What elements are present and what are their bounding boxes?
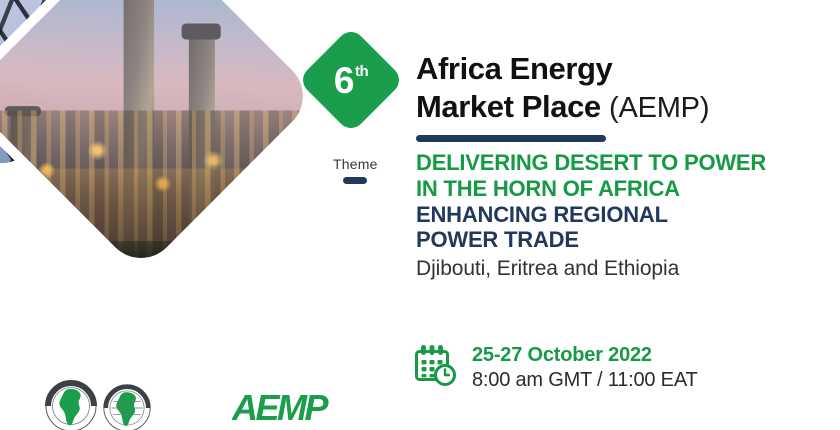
theme-label-group: Theme: [333, 156, 378, 184]
theme-line-3: ENHANCING REGIONAL: [416, 202, 828, 228]
aemp-wordmark-text: AEMP: [232, 387, 329, 428]
event-datetime-text: 25-27 October 2022 8:00 am GMT / 11:00 E…: [472, 344, 698, 391]
theme-statement: DELIVERING DESERT TO POWER IN THE HORN O…: [416, 150, 828, 282]
event-title-line-2-text: Market Place: [416, 89, 601, 124]
edition-number: 6: [334, 62, 354, 99]
power-plant-photo: [0, 0, 318, 273]
theme-countries: Djibouti, Eritrea and Ethiopia: [416, 257, 828, 282]
event-datetime-block: 25-27 October 2022 8:00 am GMT / 11:00 E…: [412, 342, 698, 393]
edition-badge-text: 6 th: [313, 42, 389, 118]
banner-content: Africa Energy Market Place (AEMP) DELIVE…: [416, 50, 828, 282]
foreground-foliage: [0, 241, 318, 273]
event-title-line-2: Market Place (AEMP): [416, 88, 828, 126]
power-plant-image: [0, 0, 318, 273]
african-development-fund-logo: [102, 383, 152, 430]
event-time: 8:00 am GMT / 11:00 EAT: [472, 369, 698, 391]
theme-underline-dash: [343, 177, 367, 184]
title-divider-rule: [416, 135, 606, 142]
theme-line-1: DELIVERING DESERT TO POWER: [416, 150, 828, 176]
partner-logos: [44, 379, 152, 430]
african-development-bank-logo: [44, 379, 98, 430]
edition-ordinal-suffix: th: [355, 64, 368, 79]
theme-line-2: IN THE HORN OF AFRICA: [416, 176, 828, 202]
event-title-line-1: Africa Energy: [416, 50, 828, 88]
edition-badge: 6 th: [297, 26, 404, 133]
plant-light-glow: [0, 169, 318, 273]
event-dates: 25-27 October 2022: [472, 344, 652, 366]
event-banner: 6 th Theme Africa Energy Market Place (A…: [0, 0, 840, 430]
diamond-artwork-cluster: [0, 0, 330, 315]
event-title-abbreviation: (AEMP): [609, 92, 709, 124]
aemp-wordmark-logo: AEMP: [232, 387, 336, 430]
theme-line-4: POWER TRADE: [416, 227, 828, 253]
calendar-clock-icon: [412, 342, 458, 393]
theme-label: Theme: [333, 156, 378, 172]
